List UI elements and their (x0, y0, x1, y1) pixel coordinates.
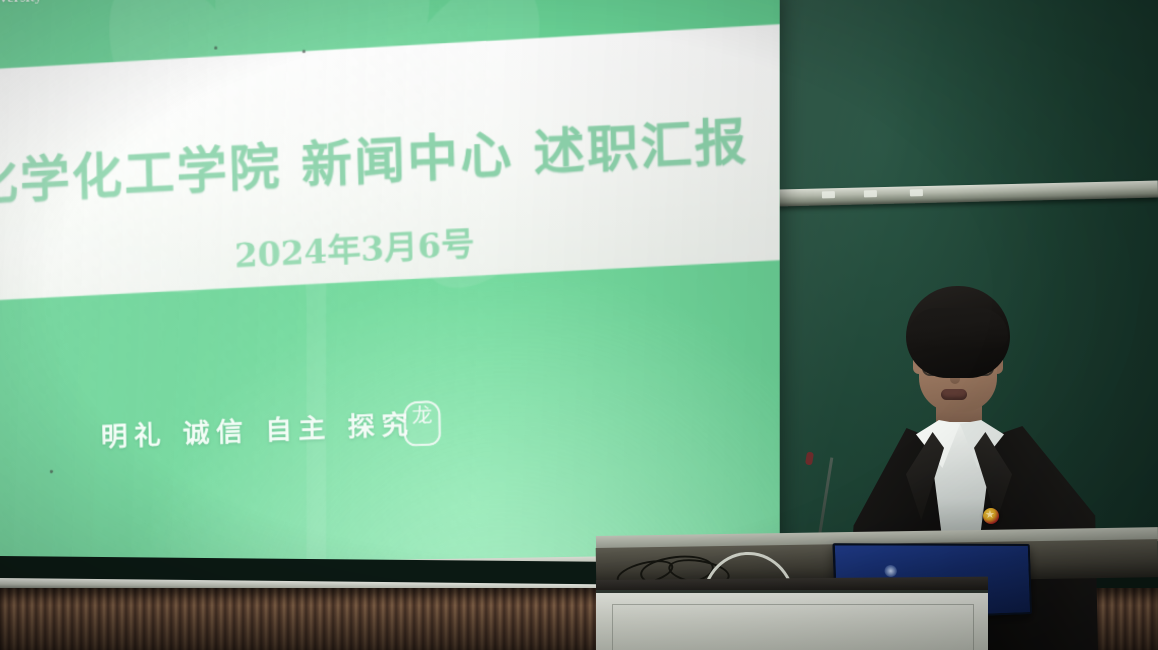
seal-stamp-icon: 龙 (403, 400, 441, 447)
chalk-piece (822, 191, 835, 198)
seal-glyph: 龙 (406, 406, 439, 428)
chalk-piece (864, 190, 877, 197)
hair-fringe (908, 308, 1008, 348)
badge-star-glyph: ★ (985, 509, 995, 522)
projected-slide: University 化学化工学院 新闻中心 述职汇报 2024年3月6号 明礼… (0, 0, 780, 582)
projection-screen: University 化学化工学院 新闻中心 述职汇报 2024年3月6号 明礼… (0, 0, 780, 582)
presentation-photo-scene: University 化学化工学院 新闻中心 述职汇报 2024年3月6号 明礼… (0, 0, 1158, 650)
laptop-logo-icon (884, 565, 897, 577)
party-emblem-badge-icon: ★ (983, 508, 999, 524)
podium-front-panel (612, 604, 974, 650)
mouth (941, 389, 967, 400)
chalk-piece (910, 189, 923, 196)
dust-speck (50, 470, 53, 473)
